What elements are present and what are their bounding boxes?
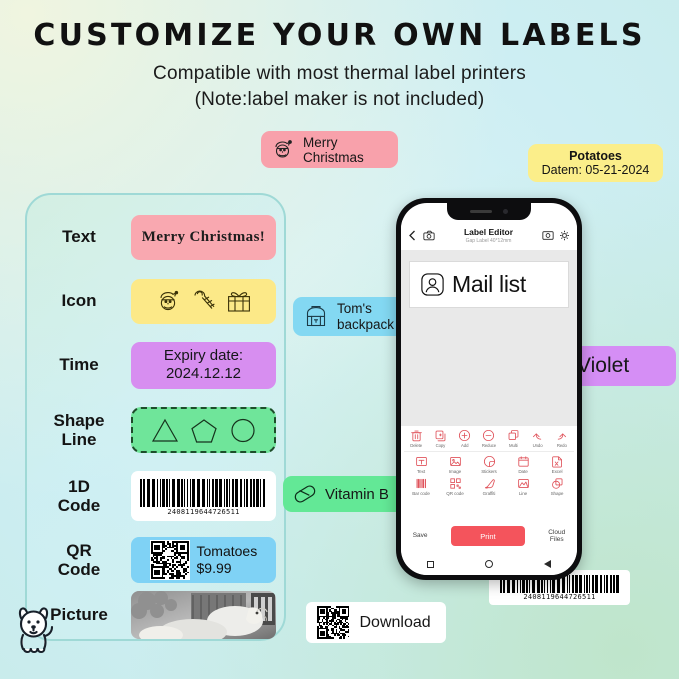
tool-reduce[interactable]: Reduce xyxy=(477,429,501,448)
toolbar-row-insert-2: Bar codeQR codeGraffitiLineShape xyxy=(404,477,574,496)
phone-mockup: Label Editor Gap Label 40*12mm xyxy=(396,198,582,580)
barcode-number: 2408119644726511 xyxy=(523,593,595,601)
tool-label: Add xyxy=(461,443,468,448)
sample-label-qrcode: Tomatoes $9.99 xyxy=(131,537,276,583)
cloud-files-line-2: Files xyxy=(548,536,565,543)
tool-redo[interactable]: Redo xyxy=(550,429,574,448)
home-icon[interactable] xyxy=(485,560,493,568)
text-icon xyxy=(415,455,428,468)
trash-icon xyxy=(410,429,423,442)
vitamin-text: Vitamin B xyxy=(325,486,389,503)
backpack-line-1: Tom's xyxy=(337,301,394,316)
floating-label-download: Download xyxy=(306,602,446,643)
save-button[interactable]: Save xyxy=(413,532,428,539)
tool-shape[interactable]: Shape xyxy=(542,477,573,496)
qr-line-1: Tomatoes xyxy=(197,543,258,560)
excel-icon xyxy=(551,455,564,468)
back-icon[interactable] xyxy=(544,560,551,568)
image-icon xyxy=(449,455,462,468)
sample-label-icons xyxy=(131,279,276,324)
panel-row-text: Text Merry Christmas! xyxy=(27,207,288,267)
row-label-shape-line1: Shape xyxy=(27,411,131,430)
download-text: Download xyxy=(359,614,430,632)
tool-label: Line xyxy=(519,491,527,496)
poster-canvas: CUSTOMIZE YOUR OWN LABELS Compatible wit… xyxy=(0,0,679,679)
gear-icon[interactable] xyxy=(559,230,570,241)
person-badge-icon xyxy=(419,271,446,298)
tool-label: Bar code xyxy=(412,491,430,496)
sample-text-content: Merry Christmas! xyxy=(142,229,265,246)
row-label-barcode: 1D Code xyxy=(27,477,131,515)
tool-bar-code[interactable]: Bar code xyxy=(406,477,437,496)
potatoes-title: Potatoes xyxy=(569,149,622,163)
tool-label: Date xyxy=(518,469,527,474)
app-header: Label Editor Gap Label 40*12mm xyxy=(401,220,577,250)
plus-circle-icon xyxy=(458,429,471,442)
panel-row-time: Time Expiry date: 2024.12.12 xyxy=(27,335,288,395)
tool-image[interactable]: Image xyxy=(440,455,471,474)
camera-icon[interactable] xyxy=(423,230,435,241)
barcode-bars xyxy=(140,479,267,507)
tool-label: Copy xyxy=(436,443,446,448)
qr-code-icon xyxy=(316,605,350,639)
row-label-shape-line2: Line xyxy=(27,430,131,449)
tool-date[interactable]: Date xyxy=(508,455,539,474)
tool-label: Image xyxy=(449,469,461,474)
phone-notch xyxy=(447,203,531,220)
triangle-icon xyxy=(150,416,180,444)
canvas-label-text: Mail list xyxy=(452,271,526,298)
row-label-shape: Shape Line xyxy=(27,411,131,449)
print-button[interactable]: Print xyxy=(451,526,525,546)
row-label-barcode-line1: 1D xyxy=(27,477,131,496)
label-type-panel: Text Merry Christmas! Icon xyxy=(25,193,286,641)
panel-row-qrcode: QR Code Tomatoes $9.99 xyxy=(27,531,288,589)
app-title: Label Editor xyxy=(435,227,542,237)
time-line-2: 2024.12.12 xyxy=(166,365,241,383)
tool-label: Delete xyxy=(410,443,422,448)
backpack-line-2: backpack xyxy=(337,317,394,332)
page-title: CUSTOMIZE YOUR OWN LABELS xyxy=(0,18,679,53)
tool-label: Stickers xyxy=(481,469,497,474)
panel-row-barcode: 1D Code 2408119644726511 xyxy=(27,465,288,527)
tool-add[interactable]: Add xyxy=(453,429,477,448)
page-subtitle-2: (Note:label maker is not included) xyxy=(0,89,679,111)
row-label-icon: Icon xyxy=(27,291,131,310)
candy-cane-icon xyxy=(191,288,217,315)
minus-circle-icon xyxy=(482,429,495,442)
redo-icon xyxy=(555,429,568,442)
pentagon-icon xyxy=(189,416,219,444)
tool-label: Undo xyxy=(533,443,543,448)
violet-text: Violet xyxy=(577,354,629,378)
sample-label-text: Merry Christmas! xyxy=(131,215,276,260)
panel-row-picture: Picture xyxy=(27,587,288,643)
speaker-icon xyxy=(470,210,492,213)
circle-icon xyxy=(228,416,258,444)
row-label-qrcode-line1: QR xyxy=(27,541,131,560)
editor-toolbar: DeleteCopyAddReduceMultiUndoRedo TextIma… xyxy=(401,426,577,499)
layers-icon xyxy=(507,429,520,442)
calendar-icon xyxy=(517,455,530,468)
tool-excel[interactable]: Excel xyxy=(542,455,573,474)
row-label-qrcode: QR Code xyxy=(27,541,131,579)
tool-undo[interactable]: Undo xyxy=(525,429,549,448)
santa-icon xyxy=(156,288,182,315)
qr-line-2: $9.99 xyxy=(197,560,258,577)
cloud-files-line-1: Cloud xyxy=(548,529,565,536)
preview-icon[interactable] xyxy=(542,230,554,241)
chevron-left-icon[interactable] xyxy=(408,230,417,241)
tool-label: Multi xyxy=(509,443,518,448)
page-subtitle-1: Compatible with most thermal label print… xyxy=(0,63,679,85)
row-label-barcode-line2: Code xyxy=(27,496,131,515)
time-line-1: Expiry date: xyxy=(164,347,243,365)
recents-icon[interactable] xyxy=(427,561,434,568)
backpack-icon xyxy=(303,303,329,330)
editor-canvas[interactable]: Mail list xyxy=(401,250,577,426)
canvas-label-object[interactable]: Mail list xyxy=(409,261,569,308)
tool-label: Text xyxy=(417,469,425,474)
tool-label: Shape xyxy=(551,491,564,496)
tool-qr-code[interactable]: QR code xyxy=(440,477,471,496)
sample-label-picture xyxy=(131,591,276,639)
android-nav-bar xyxy=(401,553,577,575)
pill-icon xyxy=(293,482,317,506)
pen-icon xyxy=(483,477,496,490)
panel-row-shape: Shape Line xyxy=(27,399,288,461)
cloud-files-button[interactable]: Cloud Files xyxy=(548,529,565,544)
dog-photo-icon xyxy=(131,591,276,639)
line-icon xyxy=(517,477,530,490)
tool-label: QR code xyxy=(446,491,463,496)
floating-label-potatoes: Potatoes Datem: 05-21-2024 xyxy=(528,144,663,182)
copy-icon xyxy=(434,429,447,442)
floating-label-christmas-text: Merry Christmas xyxy=(303,135,388,165)
tool-stickers[interactable]: Stickers xyxy=(474,455,505,474)
gift-icon xyxy=(226,288,252,315)
tool-label: Redo xyxy=(557,443,567,448)
backpack-text: Tom's backpack xyxy=(337,301,394,331)
sample-label-barcode: 2408119644726511 xyxy=(131,471,276,521)
tool-copy[interactable]: Copy xyxy=(428,429,452,448)
qr-code-icon xyxy=(150,540,190,580)
floating-label-christmas: Merry Christmas xyxy=(261,131,398,168)
tool-line[interactable]: Line xyxy=(508,477,539,496)
tool-label: Reduce xyxy=(482,443,496,448)
app-subtitle: Gap Label 40*12mm xyxy=(435,238,542,244)
barcode-icon xyxy=(415,477,428,490)
qr-code-icon xyxy=(449,477,462,490)
header-block: CUSTOMIZE YOUR OWN LABELS Compatible wit… xyxy=(0,18,679,111)
row-label-time: Time xyxy=(27,355,131,374)
undo-icon xyxy=(531,429,544,442)
sample-label-time: Expiry date: 2024.12.12 xyxy=(131,342,276,389)
potatoes-date: Datem: 05-21-2024 xyxy=(542,163,650,177)
dog-logo-icon xyxy=(8,602,64,664)
panel-row-icon: Icon xyxy=(27,271,288,331)
tool-delete[interactable]: Delete xyxy=(404,429,428,448)
camera-dot-icon xyxy=(503,209,508,214)
editor-bottom-bar: Save Print Cloud Files xyxy=(401,519,577,553)
sample-label-shapes xyxy=(131,407,276,453)
tool-multi[interactable]: Multi xyxy=(501,429,525,448)
floating-label-vitamin: Vitamin B xyxy=(283,476,404,512)
santa-icon xyxy=(271,138,295,162)
tool-text[interactable]: Text xyxy=(406,455,437,474)
tool-graffiti[interactable]: Graffiti xyxy=(474,477,505,496)
shape-icon xyxy=(551,477,564,490)
toolbar-row-insert-1: TextImageStickersDateExcel xyxy=(404,455,574,474)
sticker-icon xyxy=(483,455,496,468)
row-label-text: Text xyxy=(27,227,131,246)
toolbar-row-edit: DeleteCopyAddReduceMultiUndoRedo xyxy=(404,429,574,452)
barcode-number: 2408119644726511 xyxy=(167,508,239,516)
row-label-qrcode-line2: Code xyxy=(27,560,131,579)
tool-label: Graffiti xyxy=(483,491,496,496)
tool-label: Excel xyxy=(552,469,563,474)
